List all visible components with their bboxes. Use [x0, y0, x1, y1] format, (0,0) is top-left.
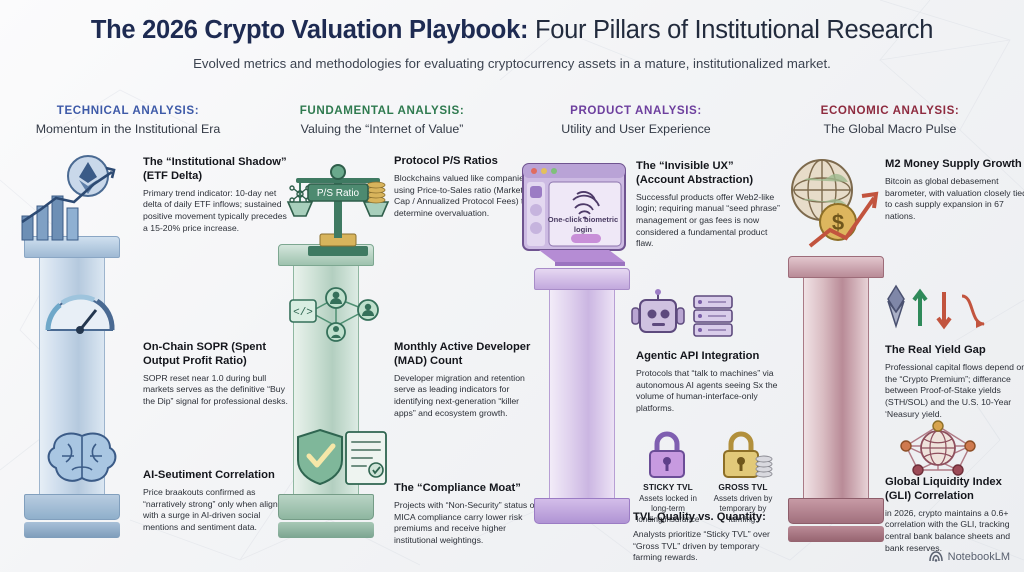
column-kicker: TECHNICAL ANALYSIS: [0, 104, 256, 117]
developer-network-icon: </> [288, 282, 392, 349]
watermark-label: NotebookLM [948, 551, 1010, 563]
ethereum-bar-chart-icon [16, 150, 134, 251]
pillar-base [788, 498, 884, 524]
block-real-yield-gap: The Real Yield Gap Professional capital … [885, 344, 1024, 420]
shield-document-icon [294, 426, 390, 493]
robot-server-icon [630, 288, 736, 349]
pillar-shaft [803, 278, 869, 498]
block-tvl-quality: TVL Quality vs. Quantity: Analysts prior… [633, 511, 779, 564]
phone-caption: One-click biometric login [544, 215, 622, 236]
block-invisible-ux: The “Invisible UX” (Account Abstraction)… [636, 160, 782, 250]
page-title-bold: The 2026 Crypto Valuation Playbook: [91, 16, 528, 44]
column-kicker: FUNDAMENTAL ANALYSIS: [254, 104, 510, 117]
column-header-economic: ECONOMIC ANALYSIS: The Global Macro Puls… [762, 104, 1018, 136]
block-heading: Agentic API Integration [636, 350, 782, 364]
column-header-fundamental: FUNDAMENTAL ANALYSIS: Valuing the “Inter… [254, 104, 510, 136]
column-subhead: Momentum in the Institutional Era [0, 122, 256, 136]
scale-label-text: P/S Ratio [317, 188, 360, 199]
block-body: Analysts prioritize “Sticky TVL” over “G… [633, 529, 779, 564]
pillar-plinth [24, 522, 120, 538]
globe-network-icon [888, 420, 988, 483]
column-subhead: The Global Macro Pulse [762, 122, 1018, 136]
pillar-base [534, 498, 630, 524]
globe-arrow-up-icon: $ [786, 150, 886, 267]
pillar-base [24, 494, 120, 520]
block-body: Protocols that “talk to machines” via au… [636, 368, 782, 415]
block-body: Bitcoin as global debasement barometer, … [885, 176, 1024, 223]
pillar-plinth [534, 526, 630, 542]
page-title-light: Four Pillars of Institutional Research [528, 16, 933, 44]
lock-title: STICKY TVL [633, 482, 703, 492]
column-header-technical: TECHNICAL ANALYSIS: Momentum in the Inst… [0, 104, 256, 136]
block-body: in 2026, crypto maintains a 0.6+ correla… [885, 508, 1024, 555]
notebooklm-icon [929, 550, 943, 563]
yield-arrows-icon [882, 282, 992, 341]
block-heading: The “Invisible UX” (Account Abstraction) [636, 160, 782, 188]
pillar-base [278, 494, 374, 520]
page-subtitle: Evolved metrics and methodologies for ev… [0, 56, 1024, 71]
column-subhead: Utility and User Experience [508, 122, 764, 136]
block-heading: Global Liquidity Index (GLI) Correlation [885, 476, 1024, 504]
pillar-product [534, 268, 630, 542]
infographic-canvas: The 2026 Crypto Valuation Playbook: Four… [0, 0, 1024, 572]
pillar-cap [534, 268, 630, 290]
svg-text:</>: </> [293, 307, 313, 319]
block-m2-money-supply: M2 Money Supply Growth Bitcoin as global… [885, 158, 1024, 223]
purple-padlock-icon [644, 430, 690, 483]
block-heading: TVL Quality vs. Quantity: [633, 511, 779, 525]
column-subhead: Valuing the “Internet of Value” [254, 122, 510, 136]
block-heading: The Real Yield Gap [885, 344, 1024, 358]
column-kicker: PRODUCT ANALYSIS: [508, 104, 764, 117]
pillar-plinth [278, 522, 374, 538]
page-header: The 2026 Crypto Valuation Playbook: Four… [0, 16, 1024, 71]
column-header-product: PRODUCT ANALYSIS: Utility and User Exper… [508, 104, 764, 136]
block-global-liquidity-index: Global Liquidity Index (GLI) Correlation… [885, 476, 1024, 554]
pillar-economic [788, 256, 884, 542]
balance-scale-icon: P/S Ratio [286, 154, 390, 271]
block-heading: M2 Money Supply Growth [885, 158, 1024, 172]
notebooklm-watermark: NotebookLM [929, 550, 1010, 563]
block-body: Professional capital flows depend on the… [885, 362, 1024, 420]
pillar-shaft [549, 290, 615, 498]
pillar-plinth [788, 526, 884, 542]
block-agentic-api: Agentic API Integration Protocols that “… [636, 350, 782, 415]
block-body: Successful products offer Web2-like logi… [636, 192, 782, 250]
gauge-meter-icon [42, 284, 118, 345]
column-kicker: ECONOMIC ANALYSIS: [762, 104, 1018, 117]
brain-icon [42, 428, 122, 493]
page-title: The 2026 Crypto Valuation Playbook: Four… [0, 16, 1024, 45]
